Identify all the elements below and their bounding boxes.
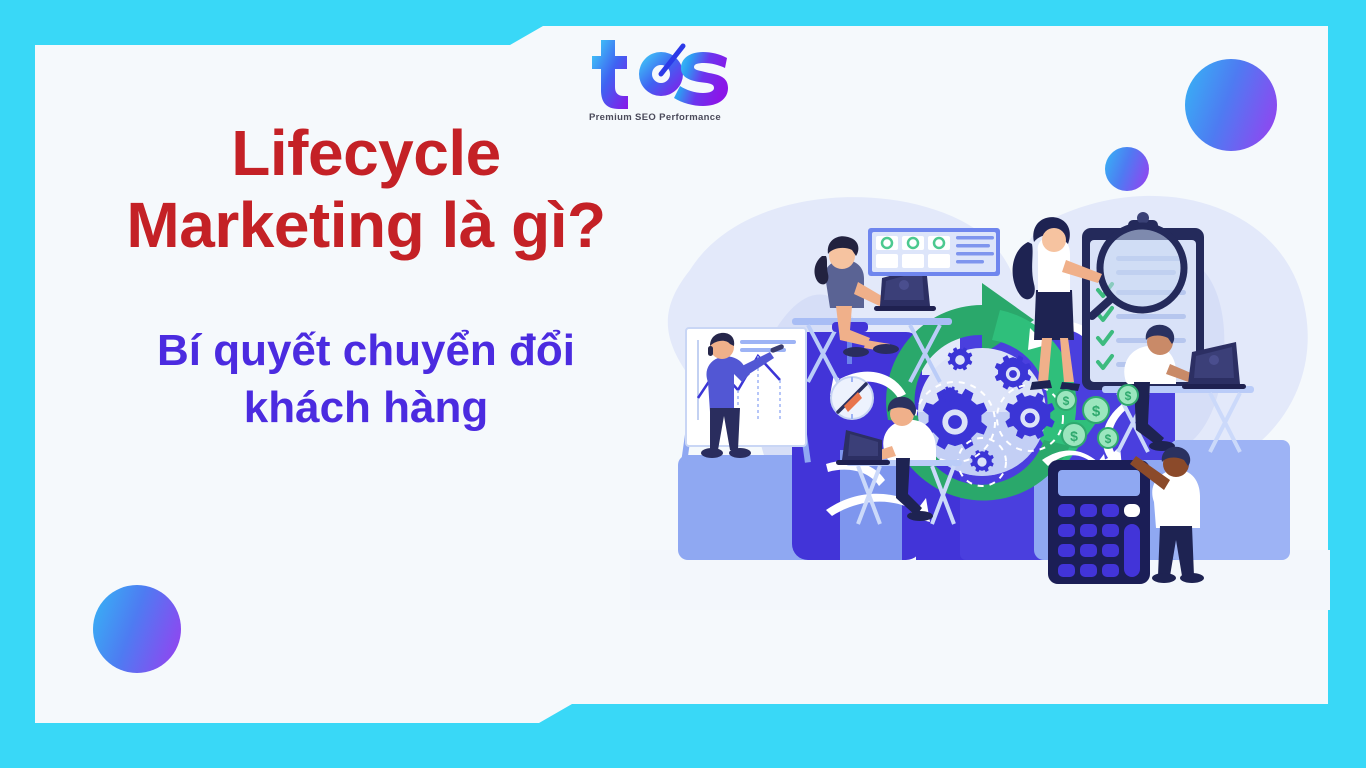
dollar-coin: $ (1062, 423, 1086, 447)
headline-block: Lifecycle Marketing là gì? Bí quyết chuy… (36, 118, 696, 436)
page-subtitle-line-2: khách hàng (36, 380, 696, 436)
page-title-line-2: Marketing là gì? (36, 190, 696, 262)
dollar-coin: $ (1083, 397, 1109, 423)
svg-text:$: $ (1125, 389, 1132, 403)
page-title-line-1: Lifecycle (36, 118, 696, 190)
dashboard-panel (868, 228, 1000, 276)
page-title: Lifecycle Marketing là gì? (36, 118, 696, 261)
tos-wordmark-icon (575, 32, 735, 110)
lifecycle-marketing-illustration: $ $ $ $ $ (630, 150, 1330, 610)
dollar-coin: $ (1056, 390, 1076, 410)
page-subtitle-line-1: Bí quyết chuyển đổi (36, 323, 696, 379)
decorative-circle-large (1185, 59, 1277, 151)
compass-icon (831, 377, 873, 419)
svg-text:$: $ (1063, 394, 1070, 408)
page-subtitle: Bí quyết chuyển đổi khách hàng (36, 323, 696, 436)
svg-text:$: $ (1092, 403, 1101, 420)
person-whiteboard (681, 328, 811, 463)
dollar-coin: $ (1098, 428, 1118, 448)
logo-tagline: Premium SEO Performance (575, 112, 735, 123)
svg-text:$: $ (1070, 428, 1078, 444)
calculator (1048, 460, 1150, 584)
decorative-circle-bottom (93, 585, 181, 673)
dollar-coin: $ (1118, 385, 1138, 405)
brand-logo[interactable]: Premium SEO Performance (575, 32, 735, 123)
svg-text:$: $ (1105, 432, 1112, 446)
